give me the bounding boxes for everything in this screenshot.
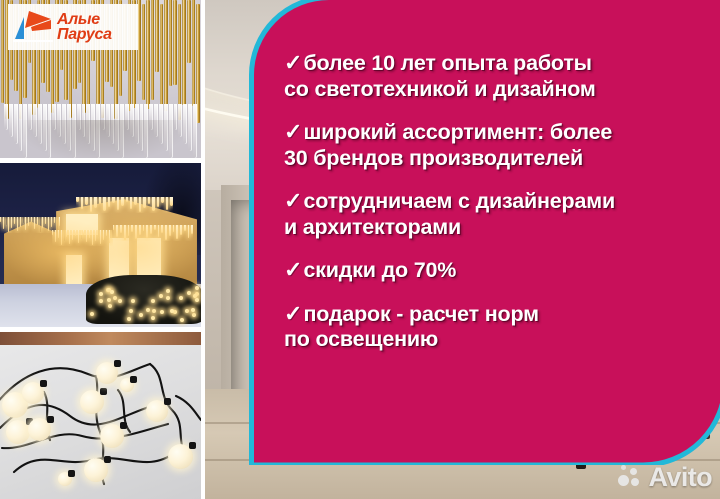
brand-logo-text: Алые Паруса	[57, 12, 112, 43]
avito-watermark: Avito	[618, 462, 713, 493]
list-item: ✓скидки до 70%	[284, 257, 686, 284]
check-icon: ✓	[284, 119, 302, 145]
advertisement-image: Алые Паруса	[0, 0, 720, 499]
photo-house-christmas-lights	[0, 163, 201, 327]
check-icon: ✓	[284, 188, 302, 214]
offer-bullet-list: ✓более 10 лет опыта работы со светотехни…	[284, 50, 686, 370]
list-item: ✓более 10 лет опыта работы со светотехни…	[284, 50, 686, 102]
chandelier-shadow	[16, 120, 189, 158]
check-icon: ✓	[284, 257, 302, 283]
avito-label: Avito	[649, 462, 713, 493]
photo-globe-string-lights	[0, 332, 201, 499]
list-item: ✓широкий ассортимент: более 30 брендов п…	[284, 119, 686, 171]
sail-logo-icon	[11, 8, 55, 46]
bullet-text: скидки до 70%	[303, 258, 456, 282]
left-photo-column: Алые Паруса	[0, 0, 201, 499]
bullet-text: подарок - расчет норм по освещению	[284, 302, 539, 352]
bush-bulbs	[0, 163, 201, 327]
list-item: ✓сотрудничаем с дизайнерами и архитектор…	[284, 188, 686, 240]
brand-logo: Алые Паруса	[8, 4, 138, 50]
brand-logo-line2: Паруса	[57, 27, 112, 42]
photo-gold-tube-chandelier: Алые Паруса	[0, 0, 201, 158]
bullet-text: сотрудничаем с дизайнерами и архитектора…	[284, 189, 615, 239]
check-icon: ✓	[284, 50, 302, 76]
check-icon: ✓	[284, 301, 302, 327]
avito-dots-icon	[618, 465, 644, 491]
bullet-text: широкий ассортимент: более 30 брендов пр…	[284, 120, 612, 170]
list-item: ✓подарок - расчет норм по освещению	[284, 301, 686, 353]
brand-logo-line1: Алые	[57, 12, 112, 27]
bullet-text: более 10 лет опыта работы со светотехник…	[284, 51, 596, 101]
